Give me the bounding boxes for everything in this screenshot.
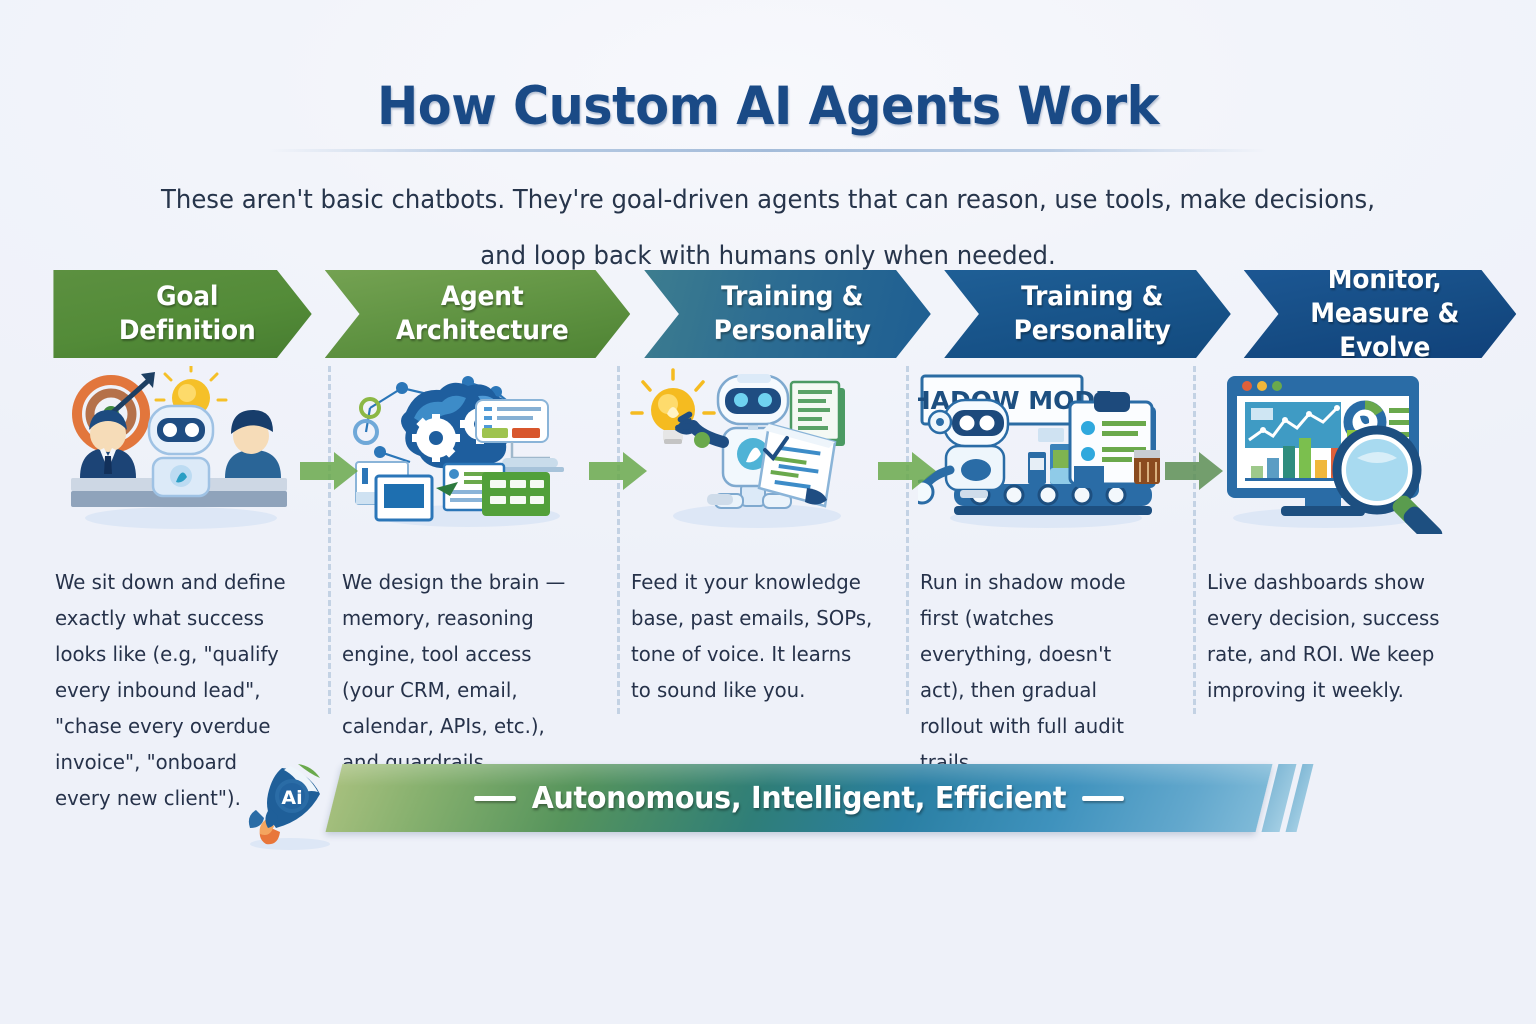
ai-rocket-icon: Ai	[238, 752, 350, 852]
process-step-columns: We sit down and define exactly what succ…	[45, 362, 1482, 754]
step-header-agent-architecture[interactable]: Agent Architecture	[325, 270, 631, 358]
step-body-training-personality-2: Run in shadow mode first (watches everyt…	[920, 564, 1162, 780]
step-column-training-personality-2: SHADOW MODE	[910, 362, 1197, 754]
title-divider	[268, 149, 1268, 152]
flow-arrow-icon	[589, 450, 647, 492]
step-column-monitor-measure-evolve: Live dashboards show every decision, suc…	[1197, 362, 1482, 754]
brain-gears-network-panels-icon	[340, 366, 602, 534]
process-step-header-band: Goal Definition Agent Architecture Train…	[45, 270, 1482, 358]
banner-dash-right	[1082, 796, 1124, 801]
infographic-page: How Custom AI Agents Work These aren't b…	[0, 0, 1536, 1024]
step-header-line2: Definition	[119, 314, 256, 348]
title-block: How Custom AI Agents Work	[0, 76, 1536, 152]
step-header-monitor-measure-evolve[interactable]: Monitor, Measure & Evolve	[1244, 270, 1517, 358]
step-header-line2: Personality	[1014, 314, 1171, 348]
robot-lightbulb-documents-icon	[629, 366, 891, 534]
ai-badge-text: Ai	[281, 787, 302, 809]
step-column-agent-architecture: We design the brain — memory, reasoning …	[332, 362, 619, 754]
step-column-training-personality-1: Feed it your knowledge base, past emails…	[621, 362, 908, 754]
meeting-target-lightbulb-robot-icon	[53, 366, 315, 534]
step-body-training-personality-1: Feed it your knowledge base, past emails…	[631, 564, 873, 708]
shadow-mode-robot-conveyor-icon: SHADOW MODE	[918, 366, 1180, 534]
step-header-line1: Goal	[119, 280, 256, 314]
step-body-monitor-measure-evolve: Live dashboards show every decision, suc…	[1207, 564, 1449, 708]
step-header-goal-definition[interactable]: Goal Definition	[53, 270, 312, 358]
step-header-line2: Personality	[714, 314, 871, 348]
step-header-line2: Measure & Evolve	[1266, 297, 1503, 365]
step-header-training-personality-2[interactable]: Training & Personality	[944, 270, 1231, 358]
step-header-training-personality-1[interactable]: Training & Personality	[644, 270, 931, 358]
step-column-goal-definition: We sit down and define exactly what succ…	[45, 362, 332, 754]
dashboard-monitor-magnifier-icon	[1205, 366, 1467, 534]
subtitle: These aren't basic chatbots. They're goa…	[159, 172, 1378, 284]
bottom-banner: Autonomous, Intelligent, Efficient Ai	[236, 752, 1308, 852]
step-body-agent-architecture: We design the brain — memory, reasoning …	[342, 564, 584, 780]
step-header-line1: Training &	[714, 280, 871, 314]
banner-tagline: Autonomous, Intelligent, Efficient	[532, 781, 1067, 816]
flow-arrow-icon	[300, 450, 358, 492]
banner-text-group: Autonomous, Intelligent, Efficient	[357, 764, 1241, 832]
flow-arrow-icon	[878, 450, 936, 492]
flow-arrow-icon	[1165, 450, 1223, 492]
page-title: How Custom AI Agents Work	[54, 76, 1482, 137]
step-header-line2: Architecture	[396, 314, 569, 348]
step-header-line1: Agent	[396, 280, 569, 314]
banner-dash-left	[474, 796, 516, 801]
step-header-line1: Training &	[1014, 280, 1171, 314]
